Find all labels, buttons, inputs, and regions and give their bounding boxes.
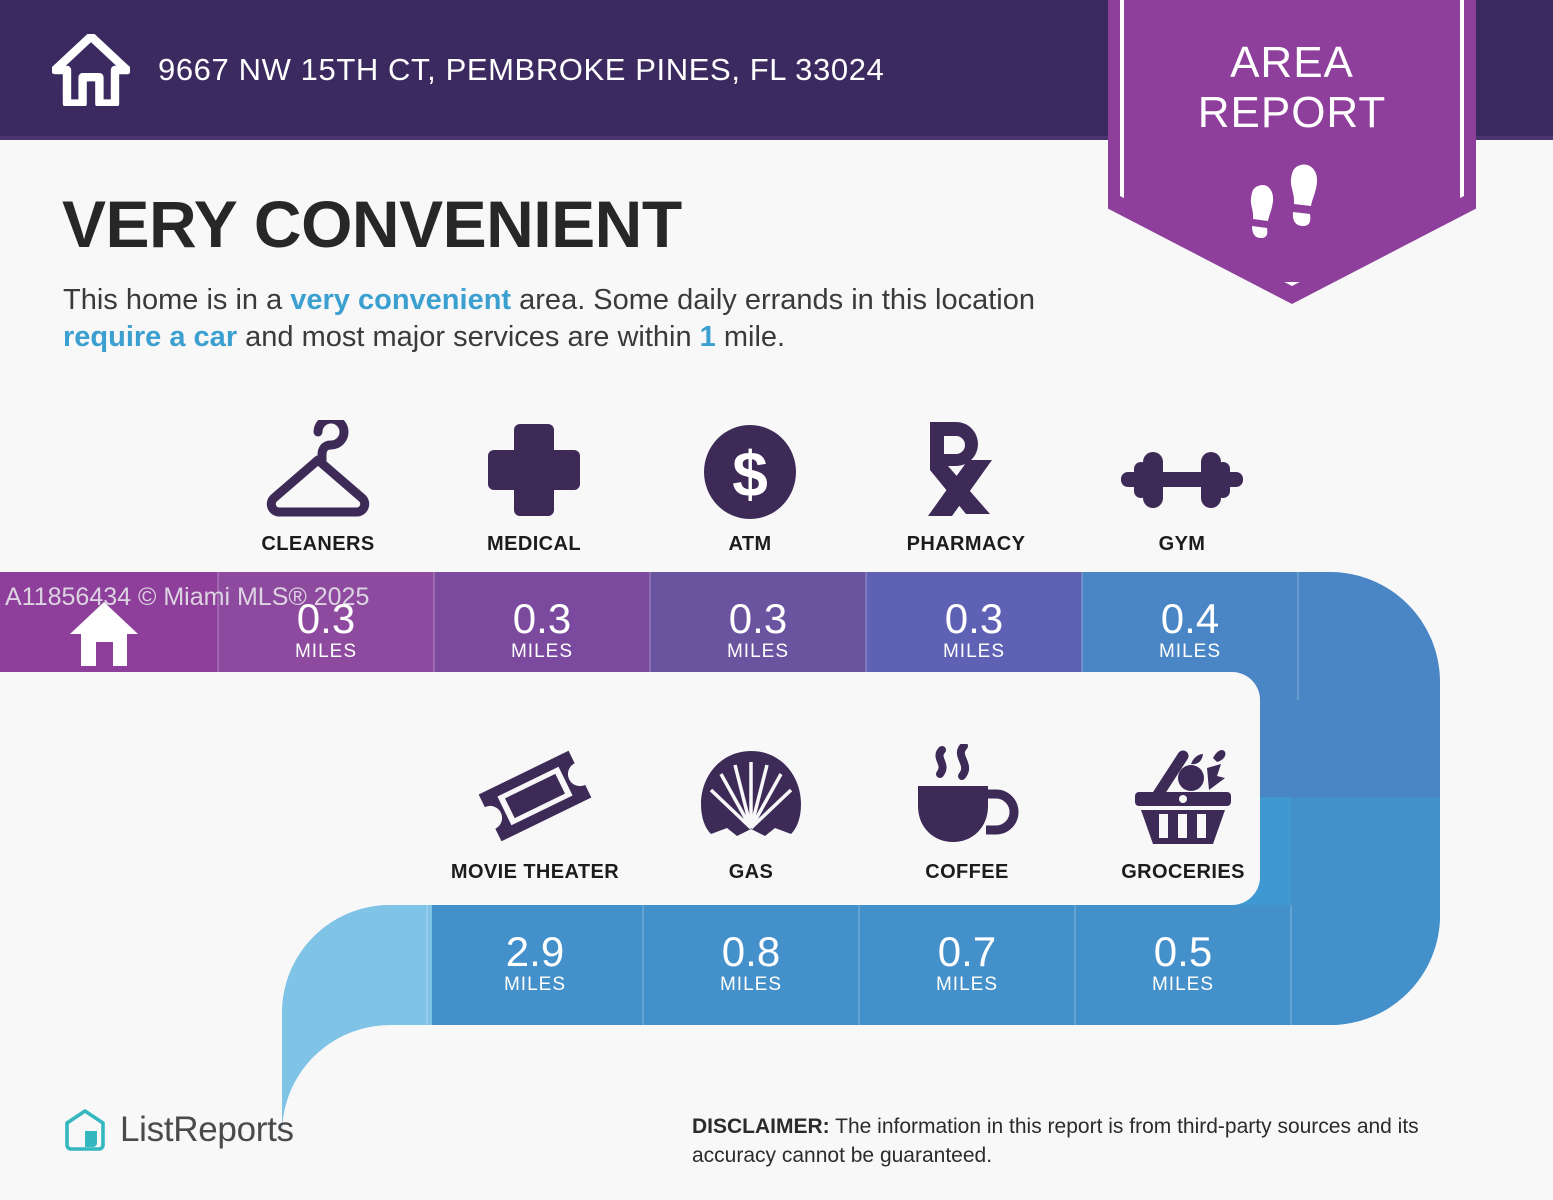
amenity-label: ATM: [728, 533, 771, 556]
rx-icon: [916, 420, 1016, 520]
amenity-movie-theater: MOVIE THEATER: [427, 748, 643, 884]
coffee-cup-icon: [912, 748, 1022, 848]
amenity-label: GAS: [729, 861, 774, 884]
amenity-label: COFFEE: [925, 861, 1009, 884]
row1-seg-tail: [1298, 560, 1553, 820]
disclaimer: DISCLAIMER: The information in this repo…: [692, 1112, 1504, 1170]
amenity-label: GROCERIES: [1121, 861, 1245, 884]
shell-icon: [699, 748, 803, 848]
amenity-medical: MEDICAL: [426, 420, 642, 556]
amenity-row-1: CLEANERS MEDICAL $ ATM: [210, 420, 1290, 556]
mls-watermark: A11856434 © Miami MLS® 2025: [5, 583, 369, 612]
listreports-house-icon: [62, 1107, 108, 1153]
listreports-wordmark: ListReports: [120, 1110, 294, 1150]
hanger-icon: [258, 420, 378, 520]
amenity-label: GYM: [1159, 533, 1206, 556]
ticket-icon: [475, 748, 595, 848]
area-report-page: 9667 NW 15TH CT, PEMBROKE PINES, FL 3302…: [0, 0, 1553, 1200]
amenity-label: PHARMACY: [907, 533, 1026, 556]
medical-cross-icon: [484, 420, 584, 520]
svg-text:$: $: [732, 438, 768, 510]
amenity-row-2: MOVIE THEATER GAS: [427, 748, 1291, 884]
amenity-label: MOVIE THEATER: [451, 861, 619, 884]
amenity-pharmacy: PHARMACY: [858, 420, 1074, 556]
disclaimer-label: DISCLAIMER:: [692, 1115, 830, 1138]
amenity-coffee: COFFEE: [859, 748, 1075, 884]
amenity-gas: GAS: [643, 748, 859, 884]
amenity-groceries: GROCERIES: [1075, 748, 1291, 884]
amenity-label: MEDICAL: [487, 533, 581, 556]
amenity-label: CLEANERS: [261, 533, 374, 556]
grocery-basket-icon: [1127, 748, 1239, 848]
amenity-gym: GYM: [1074, 420, 1290, 556]
dollar-circle-icon: $: [702, 420, 798, 520]
amenity-cleaners: CLEANERS: [210, 420, 426, 556]
row2-lower-head: [282, 900, 432, 1200]
dumbbell-icon: [1121, 420, 1243, 520]
listreports-logo[interactable]: ListReports: [62, 1107, 294, 1153]
amenity-atm: $ ATM: [642, 420, 858, 556]
